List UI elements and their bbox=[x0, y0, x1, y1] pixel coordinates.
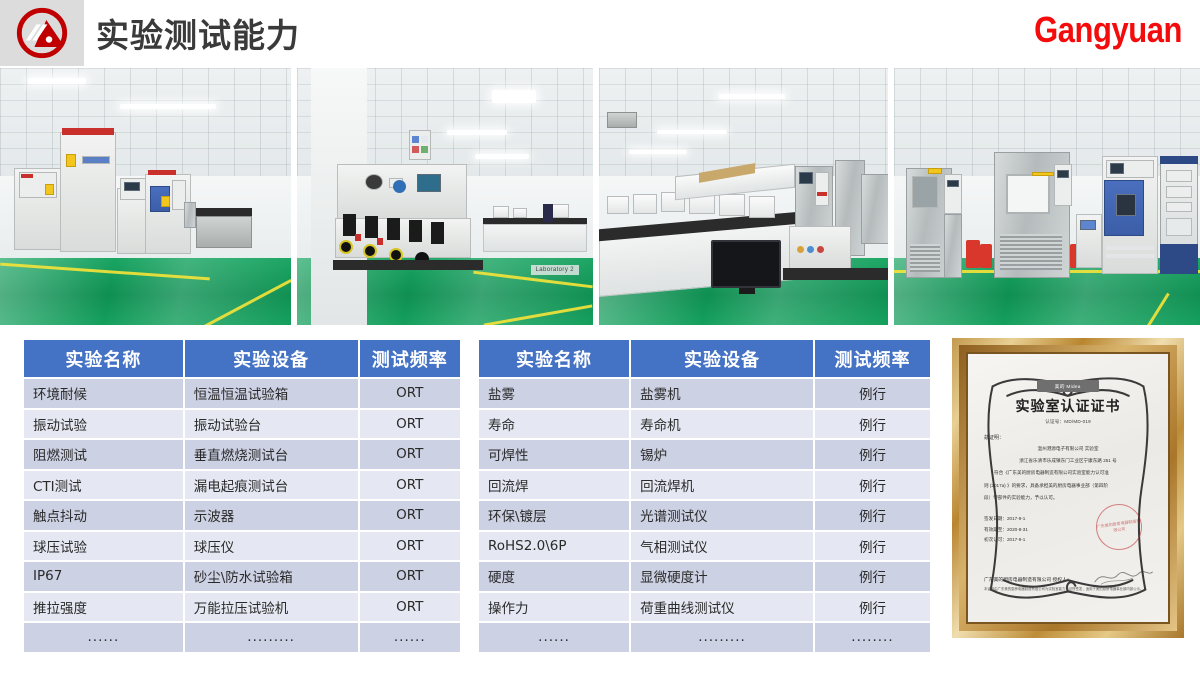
lab-photo-power-cabinets bbox=[0, 68, 291, 325]
cell-frequency: ...... bbox=[360, 623, 461, 652]
table-header-row: 实验名称 实验设备 测试频率 bbox=[24, 340, 460, 377]
cell-frequency: 例行 bbox=[815, 471, 930, 500]
cell-test-name: 阻燃测试 bbox=[24, 440, 183, 469]
cell-equipment: 寿命机 bbox=[631, 410, 813, 439]
certificate-number: 认证号：MD/MD-019 bbox=[984, 419, 1152, 425]
table-row: 操作力荷重曲线测试仪例行 bbox=[479, 593, 930, 622]
cell-equipment: 恒温恒温试验箱 bbox=[185, 379, 358, 408]
cell-equipment: 示波器 bbox=[185, 501, 358, 530]
column-header-frequency: 测试频率 bbox=[815, 340, 930, 377]
lab-photo-test-benches: Laboratory 2 bbox=[297, 68, 594, 325]
certificate-line-3: 符合《广东美的厨房电器制造有限公司实验室能力认可准 bbox=[984, 468, 1152, 477]
table-row: 推拉强度万能拉压试验机ORT bbox=[24, 593, 460, 622]
cell-equipment: 锡炉 bbox=[631, 440, 813, 469]
column-header-test-name: 实验名称 bbox=[24, 340, 183, 377]
certificate-title: 实验室认证证书 bbox=[984, 396, 1152, 416]
column-header-equipment: 实验设备 bbox=[631, 340, 813, 377]
table-row-ellipsis: ..................... bbox=[24, 623, 460, 652]
cell-test-name: 球压试验 bbox=[24, 532, 183, 561]
column-header-frequency: 测试频率 bbox=[360, 340, 461, 377]
table-row: 可焊性锡炉例行 bbox=[479, 440, 930, 469]
cell-equipment: 盐雾机 bbox=[631, 379, 813, 408]
cell-frequency: ORT bbox=[360, 532, 461, 561]
certificate-line-1: 温州港源电子有限公司 实验室 bbox=[984, 444, 1152, 453]
certificate-footer-note: 本证书由广东美的厨房电器制造有限公司为实验室能力认证所签发，适用于美的厨房电器事… bbox=[984, 586, 1152, 592]
table-row: 回流焊回流焊机例行 bbox=[479, 471, 930, 500]
lab-photo-strip: Laboratory 2 bbox=[0, 68, 1200, 325]
brand-wordmark: Gangyuan bbox=[1034, 9, 1182, 51]
cell-test-name: 环境耐候 bbox=[24, 379, 183, 408]
cell-test-name: ...... bbox=[24, 623, 183, 652]
cell-test-name: 盐雾 bbox=[479, 379, 629, 408]
cell-frequency: ORT bbox=[360, 501, 461, 530]
test-capability-table-left: 实验名称 实验设备 测试频率 环境耐候恒温恒温试验箱ORT 振动试验振动试验台O… bbox=[22, 338, 462, 654]
cell-equipment: 荷重曲线测试仪 bbox=[631, 593, 813, 622]
cell-equipment: 回流焊机 bbox=[631, 471, 813, 500]
cell-test-name: IP67 bbox=[24, 562, 183, 591]
cell-test-name: 推拉强度 bbox=[24, 593, 183, 622]
certificate-lead: 兹证明： bbox=[984, 434, 1152, 441]
cell-equipment: ......... bbox=[631, 623, 813, 652]
cell-equipment: 球压仪 bbox=[185, 532, 358, 561]
test-capability-table-right: 实验名称 实验设备 测试频率 盐雾盐雾机例行 寿命寿命机例行 可焊性锡炉例行 回… bbox=[477, 338, 932, 654]
table-row: 阻燃测试垂直燃烧测试台ORT bbox=[24, 440, 460, 469]
cell-equipment: 漏电起痕测试台 bbox=[185, 471, 358, 500]
certificate-line-2: 浙江省乐清市乐成镇东门工业区宁康东路 251 号 bbox=[984, 456, 1152, 465]
certificate-frame: 美的 Midea 实验室认证证书 认证号：MD/MD-019 兹证明： 温州港源… bbox=[952, 338, 1184, 638]
cell-test-name: 振动试验 bbox=[24, 410, 183, 439]
table-header-row: 实验名称 实验设备 测试频率 bbox=[479, 340, 930, 377]
table-row: 盐雾盐雾机例行 bbox=[479, 379, 930, 408]
slide-header: 实验测试能力 Gangyuan bbox=[0, 0, 1200, 66]
cell-equipment: 万能拉压试验机 bbox=[185, 593, 358, 622]
cell-test-name: 触点抖动 bbox=[24, 501, 183, 530]
cell-frequency: ORT bbox=[360, 471, 461, 500]
cell-equipment: 砂尘\防水试验箱 bbox=[185, 562, 358, 591]
table-row: 寿命寿命机例行 bbox=[479, 410, 930, 439]
cell-equipment: ......... bbox=[185, 623, 358, 652]
cell-test-name: 可焊性 bbox=[479, 440, 629, 469]
cell-test-name: ...... bbox=[479, 623, 629, 652]
cell-frequency: 例行 bbox=[815, 440, 930, 469]
lab-photo-environmental-chambers bbox=[894, 68, 1200, 325]
cell-frequency: 例行 bbox=[815, 501, 930, 530]
cell-frequency: 例行 bbox=[815, 379, 930, 408]
cell-frequency: ORT bbox=[360, 562, 461, 591]
cell-frequency: ORT bbox=[360, 593, 461, 622]
company-logo bbox=[0, 0, 84, 66]
page-title-plate: 实验测试能力 bbox=[96, 4, 856, 62]
photo-caption-laboratory-2: Laboratory 2 bbox=[531, 265, 580, 275]
certificate-signature-block: 广东美的厨房电器制造有限公司 授权人： 本证书由广东美的厨房电器制造有限公司为实… bbox=[984, 576, 1152, 592]
certificate-line-5: 段）零部件的实验能力，予以认可。 bbox=[984, 493, 1152, 502]
certificate-paper: 美的 Midea 实验室认证证书 认证号：MD/MD-019 兹证明： 温州港源… bbox=[968, 354, 1168, 622]
cell-equipment: 显微硬度计 bbox=[631, 562, 813, 591]
table-row-ellipsis: ....................... bbox=[479, 623, 930, 652]
cell-frequency: 例行 bbox=[815, 562, 930, 591]
page-title: 实验测试能力 bbox=[96, 9, 300, 57]
cell-test-name: 操作力 bbox=[479, 593, 629, 622]
cell-frequency: ORT bbox=[360, 379, 461, 408]
lab-photo-instrument-row bbox=[599, 68, 888, 325]
gangyuan-circle-logo-icon bbox=[15, 6, 69, 60]
cell-frequency: 例行 bbox=[815, 410, 930, 439]
table-row: 环保\镀层光谱测试仪例行 bbox=[479, 501, 930, 530]
cell-frequency: 例行 bbox=[815, 593, 930, 622]
midea-logo-badge: 美的 Midea bbox=[1037, 380, 1099, 392]
table-row: 球压试验球压仪ORT bbox=[24, 532, 460, 561]
table-row: 振动试验振动试验台ORT bbox=[24, 410, 460, 439]
cell-equipment: 气相测试仪 bbox=[631, 532, 813, 561]
table-row: 触点抖动示波器ORT bbox=[24, 501, 460, 530]
cell-frequency: ........ bbox=[815, 623, 930, 652]
cell-test-name: RoHS2.0\6P bbox=[479, 532, 629, 561]
table-row: 环境耐候恒温恒温试验箱ORT bbox=[24, 379, 460, 408]
certificate-signer: 广东美的厨房电器制造有限公司 授权人： bbox=[984, 576, 1152, 583]
cell-frequency: ORT bbox=[360, 440, 461, 469]
cell-test-name: CTI测试 bbox=[24, 471, 183, 500]
cell-frequency: ORT bbox=[360, 410, 461, 439]
certificate-line-4: 则 (2017a) 》的要求，具备承担美的厨房电器事业部（第四阶 bbox=[984, 481, 1152, 490]
laboratory-certificate-photo: 美的 Midea 实验室认证证书 认证号：MD/MD-019 兹证明： 温州港源… bbox=[952, 338, 1184, 638]
table-row: 硬度显微硬度计例行 bbox=[479, 562, 930, 591]
slide-root: 实验测试能力 Gangyuan bbox=[0, 0, 1200, 674]
cell-equipment: 垂直燃烧测试台 bbox=[185, 440, 358, 469]
column-header-equipment: 实验设备 bbox=[185, 340, 358, 377]
table-row: IP67砂尘\防水试验箱ORT bbox=[24, 562, 460, 591]
table-row: RoHS2.0\6P气相测试仪例行 bbox=[479, 532, 930, 561]
cell-test-name: 环保\镀层 bbox=[479, 501, 629, 530]
table-row: CTI测试漏电起痕测试台ORT bbox=[24, 471, 460, 500]
cell-frequency: 例行 bbox=[815, 532, 930, 561]
cell-test-name: 硬度 bbox=[479, 562, 629, 591]
cell-equipment: 光谱测试仪 bbox=[631, 501, 813, 530]
column-header-test-name: 实验名称 bbox=[479, 340, 629, 377]
cell-test-name: 寿命 bbox=[479, 410, 629, 439]
cell-equipment: 振动试验台 bbox=[185, 410, 358, 439]
cell-test-name: 回流焊 bbox=[479, 471, 629, 500]
